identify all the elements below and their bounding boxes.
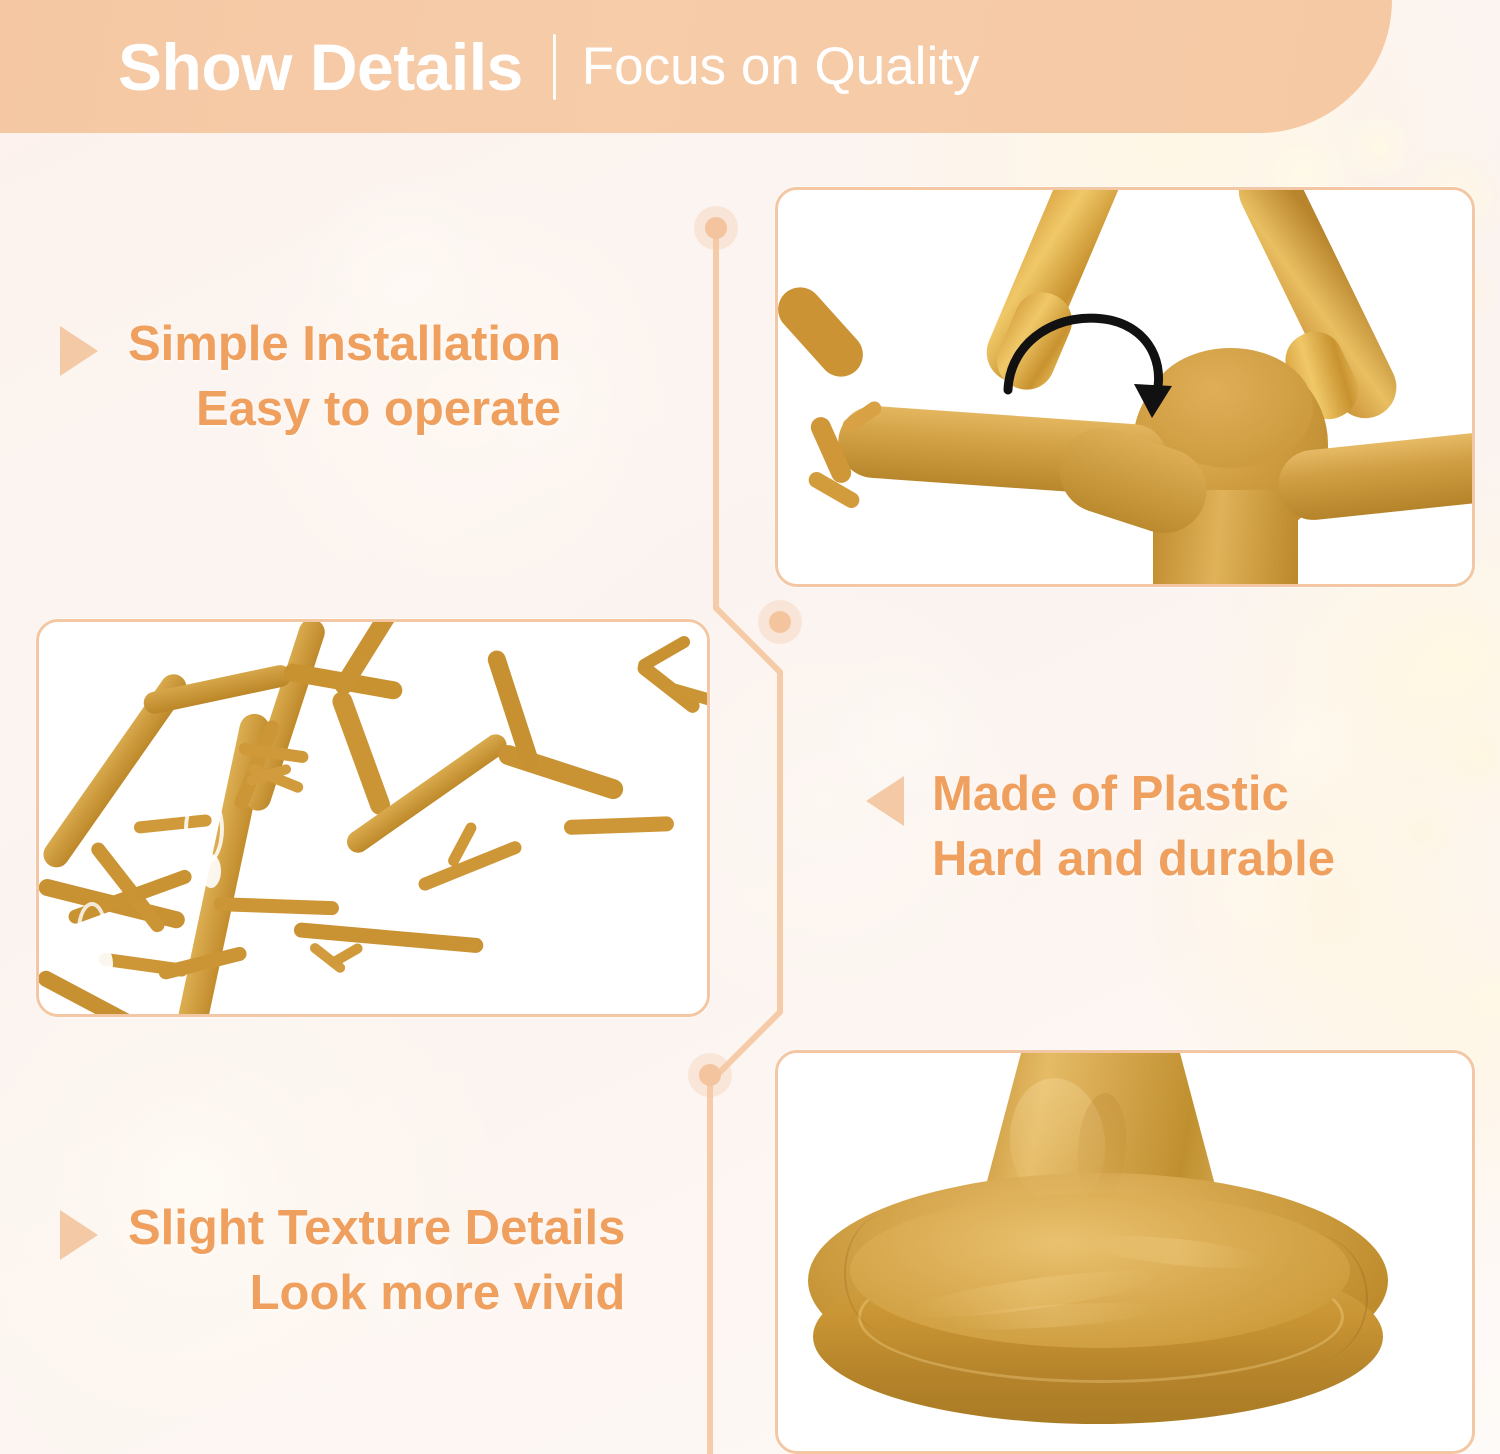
branch-right-arch-2 xyxy=(496,742,626,801)
branch-texture-image xyxy=(39,622,707,1014)
feature-line-1: Made of Plastic xyxy=(932,762,1289,827)
base-seam-line xyxy=(844,1213,934,1333)
connector-node-dot xyxy=(694,206,738,250)
branch-bottom-twig-3 xyxy=(417,839,524,892)
feature-simple-installation: Simple Installation Easy to operate xyxy=(60,312,561,441)
branch-bottom-twig-1 xyxy=(214,897,339,915)
branch-right-arch-tip xyxy=(564,816,674,835)
branch-center-fork xyxy=(330,689,393,818)
feature-line-1: Simple Installation xyxy=(128,312,561,377)
feature-line-2: Easy to operate xyxy=(196,377,561,442)
base-detail-image xyxy=(778,1053,1472,1451)
joint-detail-image xyxy=(778,190,1472,584)
feature-line-2: Hard and durable xyxy=(932,827,1335,892)
feature-slight-texture-details: Slight Texture Details Look more vivid xyxy=(60,1196,625,1325)
branch-left-arch-top xyxy=(142,663,293,716)
feature-made-of-plastic: Made of Plastic Hard and durable xyxy=(866,762,1335,891)
branch-stub-left xyxy=(778,278,872,385)
card-base-detail xyxy=(775,1050,1475,1454)
light-bulb-2 xyxy=(201,854,221,888)
base-seam-line xyxy=(1248,1233,1368,1363)
connector-node-dot xyxy=(688,1053,732,1097)
header-banner: Show Details Focus on Quality xyxy=(0,0,1392,133)
feature-line-1: Slight Texture Details xyxy=(128,1196,625,1261)
light-wire xyxy=(184,792,224,866)
header-subtitle: Focus on Quality xyxy=(582,40,980,93)
light-bulb xyxy=(87,944,113,984)
triangle-left-icon xyxy=(866,776,904,826)
card-branch-texture xyxy=(36,619,710,1017)
triangle-right-icon xyxy=(60,1210,98,1260)
branch-far-right-twig-2 xyxy=(636,634,692,673)
card-joint-detail xyxy=(775,187,1475,587)
triangle-right-icon xyxy=(60,326,98,376)
header-divider xyxy=(553,34,556,100)
assembly-arrow-icon xyxy=(1000,268,1210,463)
feature-line-2: Look more vivid xyxy=(250,1261,626,1326)
connector-node-dot xyxy=(758,600,802,644)
infographic-page: Show Details Focus on Quality Simple Ins… xyxy=(0,0,1500,1454)
page-title: Show Details xyxy=(118,34,523,100)
